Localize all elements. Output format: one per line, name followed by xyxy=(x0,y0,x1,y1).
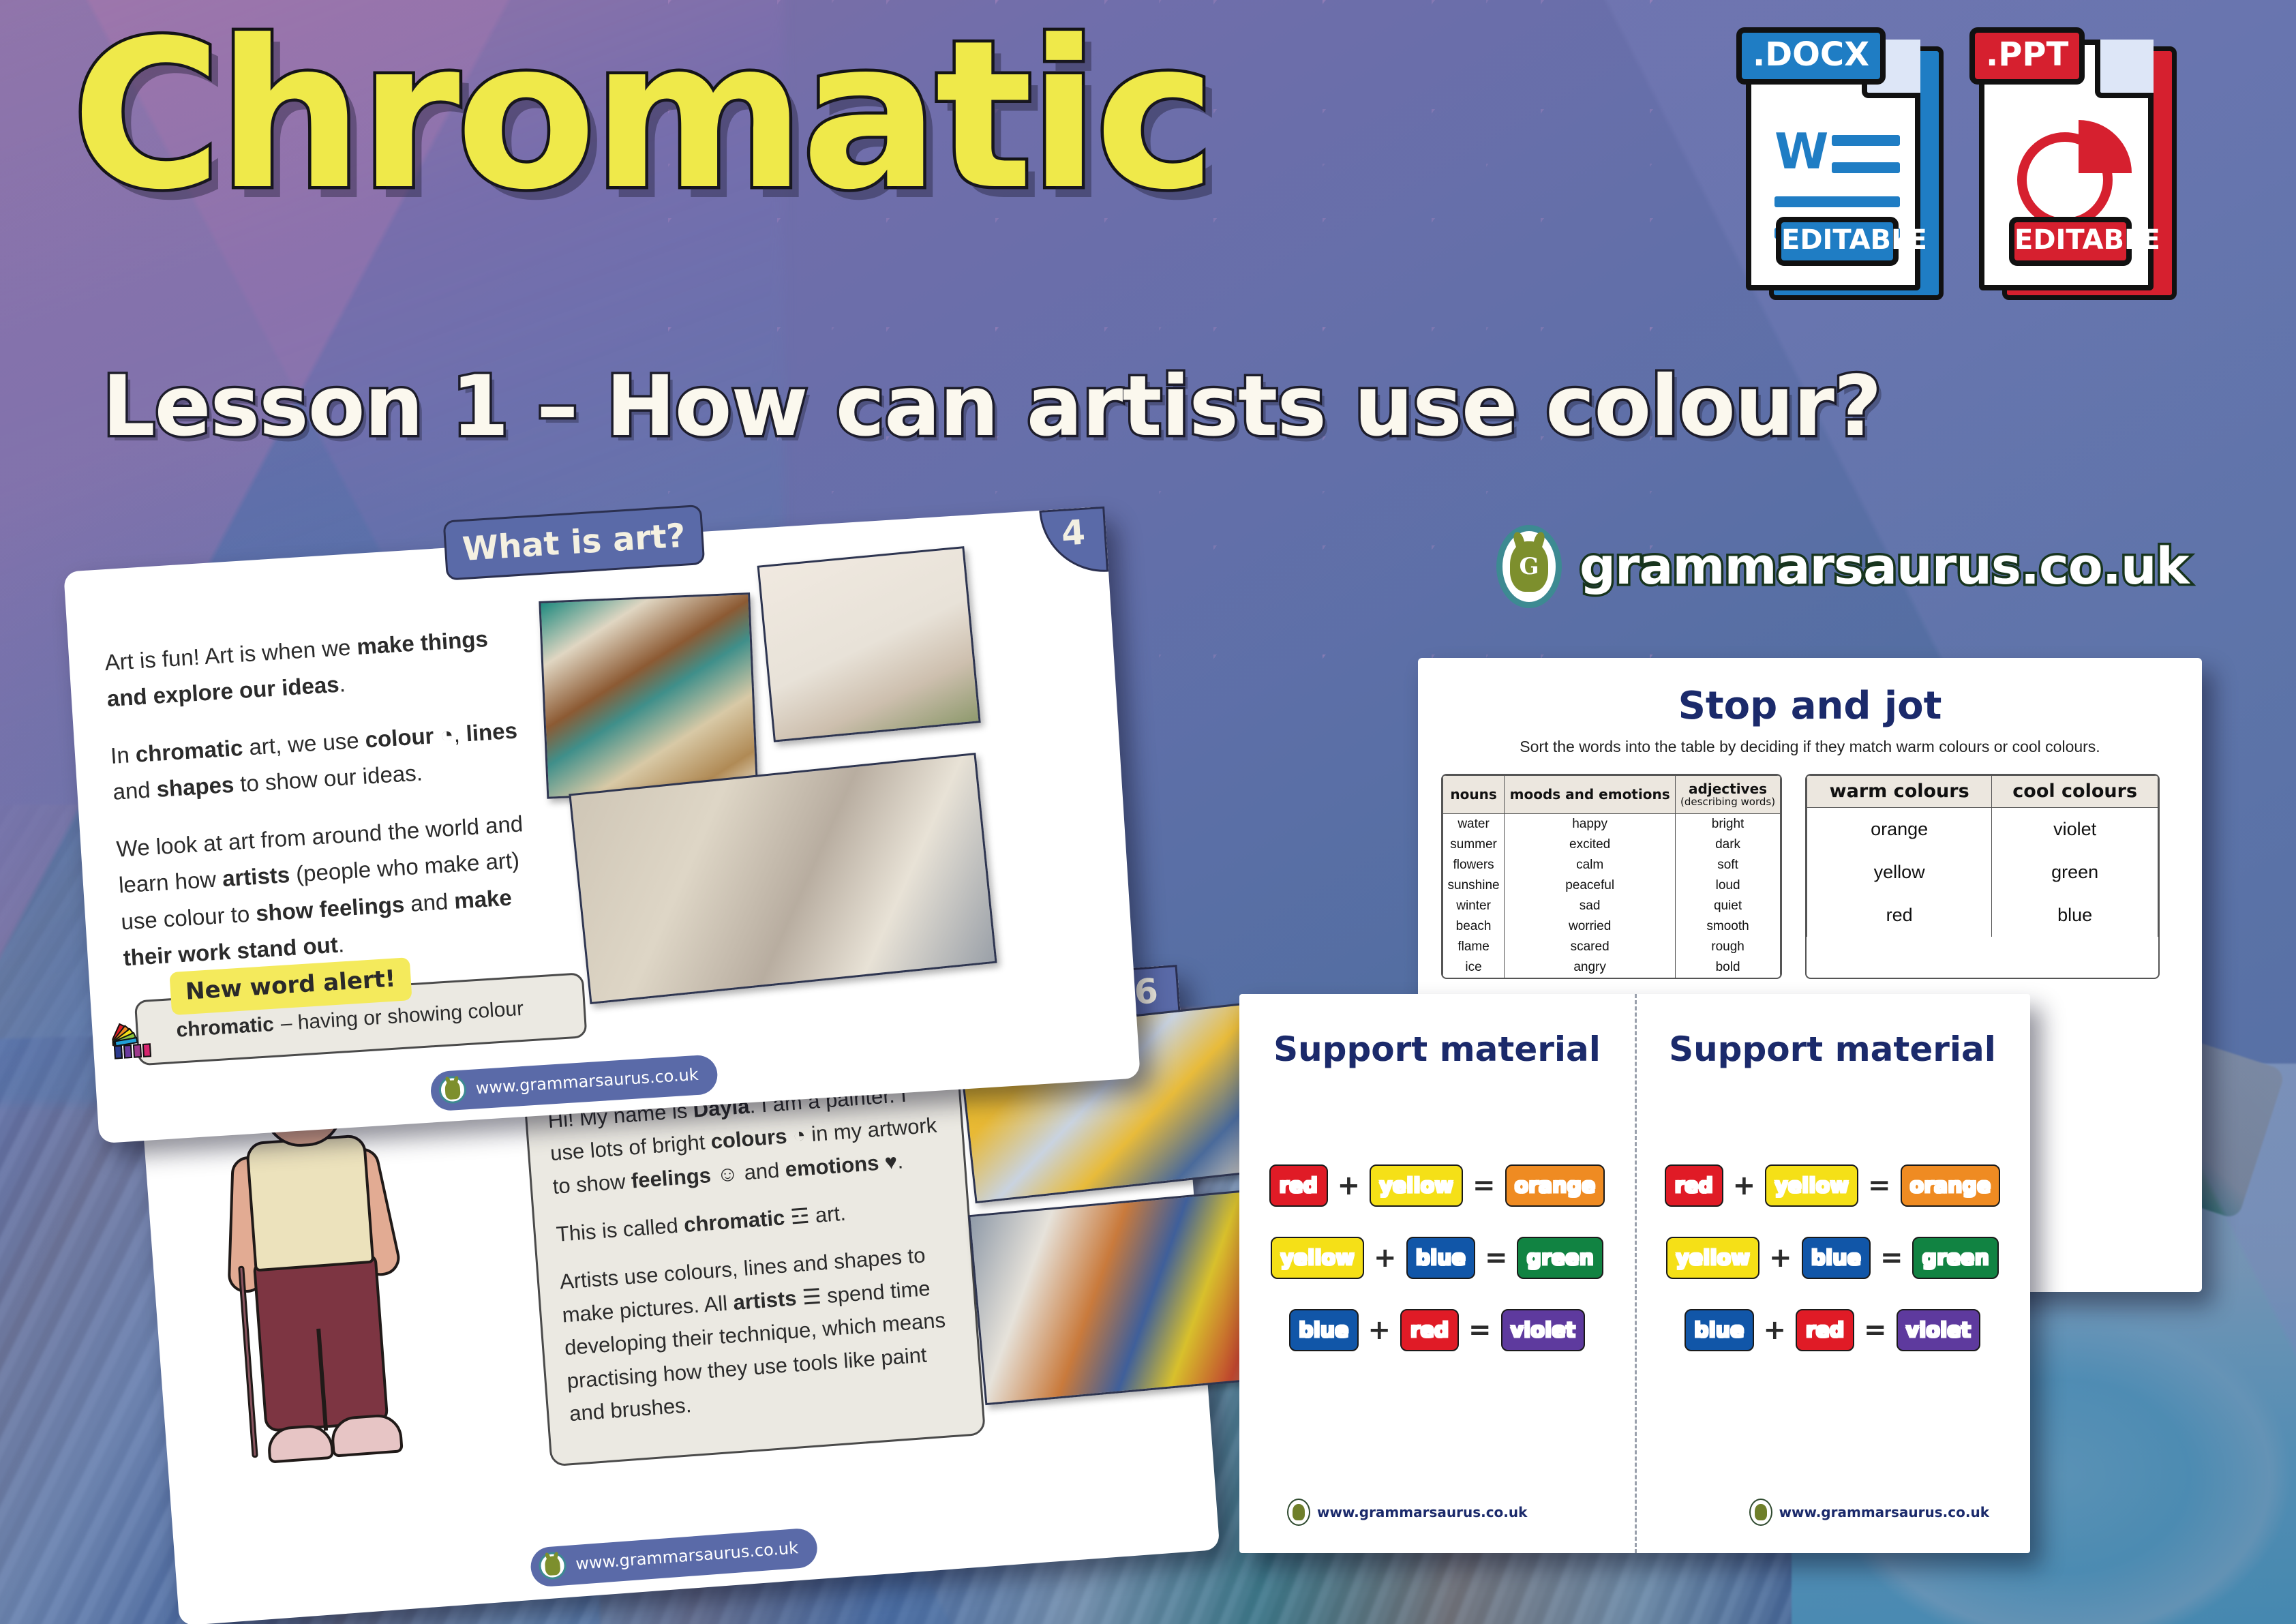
equals-symbol: = xyxy=(1472,1170,1496,1201)
word-cell: angry xyxy=(1505,957,1676,978)
paragraph: Art is fun! Art is when we make things a… xyxy=(104,618,524,717)
photo-marble-busts xyxy=(569,753,997,1004)
word-cell: rough xyxy=(1676,937,1781,957)
table-row: summerexciteddark xyxy=(1443,834,1781,855)
docx-badge: W EDITABLE .DOCX xyxy=(1746,27,1944,300)
colour-chip-orange[interactable]: orange xyxy=(1505,1164,1605,1207)
support-panel-right: Support material red+yellow=orangeyellow… xyxy=(1635,994,2030,1553)
colour-mixing-equations: red+yellow=orangeyellow+blue=greenblue+r… xyxy=(1635,1164,2030,1351)
sorted-word-cell[interactable]: violet xyxy=(1992,807,2158,851)
word-cell: bold xyxy=(1676,957,1781,978)
doc-line-2 xyxy=(1832,162,1900,173)
column-header: nouns xyxy=(1443,776,1505,814)
word-bank-table: nounsmoods and emotionsadjectives(descri… xyxy=(1441,774,1782,979)
plus-symbol: + xyxy=(1338,1170,1361,1201)
word-cell: peaceful xyxy=(1505,875,1676,896)
colour-chip-red[interactable]: red xyxy=(1400,1309,1459,1351)
colour-chip-red[interactable]: red xyxy=(1665,1164,1723,1207)
photo-palette-and-brushes xyxy=(968,1188,1278,1405)
page-fold-corner xyxy=(2095,40,2154,98)
dayla-speech-box: Hi! My name is Dayla. I am a painter. I … xyxy=(523,1055,986,1467)
footer-url-text: www.grammarsaurus.co.uk xyxy=(475,1065,699,1098)
colour-equation-row: blue+red=violet xyxy=(1685,1309,1980,1351)
lesson-subtitle: Lesson 1 – How can artists use colour? xyxy=(102,365,1882,448)
doc-line-1 xyxy=(1832,135,1900,146)
new-word-term: chromatic xyxy=(176,1013,275,1042)
equals-symbol: = xyxy=(1485,1242,1508,1274)
sorted-word-cell[interactable]: yellow xyxy=(1807,851,1992,894)
colour-chip-blue[interactable]: blue xyxy=(1406,1237,1475,1279)
photo-art-studio xyxy=(539,592,758,799)
colour-swatch-fan-icon xyxy=(110,1014,162,1059)
word-bank-header-row: nounsmoods and emotionsadjectives(descri… xyxy=(1443,776,1781,814)
colour-chip-yellow[interactable]: yellow xyxy=(1271,1237,1364,1279)
footer-dinosaur-icon xyxy=(1287,1499,1310,1526)
equals-symbol: = xyxy=(1868,1170,1891,1201)
colour-equation-row: blue+red=violet xyxy=(1289,1309,1585,1351)
docx-tag-label: .DOCX xyxy=(1736,27,1886,85)
ppt-editable-label: EDITABLE xyxy=(2009,217,2132,266)
word-cell: summer xyxy=(1443,834,1505,855)
column-header: adjectives(describing words) xyxy=(1676,776,1781,814)
footer-url-text: www.grammarsaurus.co.uk xyxy=(1317,1504,1527,1520)
column-header: cool colours xyxy=(1992,776,2158,808)
footer-url-text: www.grammarsaurus.co.uk xyxy=(1779,1504,1989,1520)
colour-chip-blue[interactable]: blue xyxy=(1802,1237,1871,1279)
support-footer-url[interactable]: www.grammarsaurus.co.uk xyxy=(1749,1499,1989,1526)
footer-dinosaur-icon xyxy=(538,1551,567,1580)
worksheet-support-material[interactable]: Support material red+yellow=orangeyellow… xyxy=(1239,994,2030,1553)
warm-cool-sorting-table[interactable]: warm colourscool colours orangevioletyel… xyxy=(1805,774,2160,979)
colour-chip-green[interactable]: green xyxy=(1517,1237,1603,1279)
word-cell: scared xyxy=(1505,937,1676,957)
word-cell: bright xyxy=(1676,813,1781,834)
word-bank-body: waterhappybrightsummerexciteddarkflowers… xyxy=(1443,813,1781,978)
colour-equation-row: yellow+blue=green xyxy=(1271,1237,1603,1279)
table-row[interactable]: yellowgreen xyxy=(1807,851,2158,894)
word-cell: soft xyxy=(1676,855,1781,875)
brand-url-text: grammarsaurus.co.uk xyxy=(1580,537,2189,596)
paragraph: In chromatic art, we use colour ◔, lines… xyxy=(110,712,530,811)
table-row: iceangrybold xyxy=(1443,957,1781,978)
table-row: waterhappybright xyxy=(1443,813,1781,834)
swatch-fan xyxy=(110,1014,162,1047)
word-cell: sunshine xyxy=(1443,875,1505,896)
table-row[interactable]: orangeviolet xyxy=(1807,807,2158,851)
support-material-title: Support material xyxy=(1635,1029,2030,1069)
word-cell: happy xyxy=(1505,813,1676,834)
word-cell: water xyxy=(1443,813,1505,834)
table-row: flowerscalmsoft xyxy=(1443,855,1781,875)
dayla-top xyxy=(245,1134,374,1272)
ppt-badge: EDITABLE .PPT xyxy=(1979,27,2177,300)
colour-chip-blue[interactable]: blue xyxy=(1685,1309,1753,1351)
stop-and-jot-instruction: Sort the words into the table by decidin… xyxy=(1418,738,2202,756)
equals-symbol: = xyxy=(1864,1314,1887,1346)
sorted-word-cell[interactable]: red xyxy=(1807,894,1992,937)
colour-chip-red[interactable]: red xyxy=(1269,1164,1328,1207)
colour-chip-orange[interactable]: orange xyxy=(1901,1164,2001,1207)
word-cell: winter xyxy=(1443,896,1505,916)
paragraph: We look at art from around the world and… xyxy=(115,805,539,976)
footer-dinosaur-icon xyxy=(1749,1499,1772,1526)
word-cell: dark xyxy=(1676,834,1781,855)
docx-editable-label: EDITABLE xyxy=(1776,217,1899,266)
colour-chip-green[interactable]: green xyxy=(1912,1237,1998,1279)
word-cell: loud xyxy=(1676,875,1781,896)
worksheet-body-text: Art is fun! Art is when we make things a… xyxy=(104,618,541,997)
table-row: wintersadquiet xyxy=(1443,896,1781,916)
file-format-badges: W EDITABLE .DOCX EDITABLE .PPT xyxy=(1746,27,2177,300)
stop-and-jot-tables: nounsmoods and emotionsadjectives(descri… xyxy=(1418,774,2202,979)
colour-chip-yellow[interactable]: yellow xyxy=(1765,1164,1858,1207)
word-cell: worried xyxy=(1505,916,1676,937)
support-footer-url[interactable]: www.grammarsaurus.co.uk xyxy=(1287,1499,1527,1526)
ppt-tag-label: .PPT xyxy=(1969,27,2085,85)
sorted-word-cell[interactable]: green xyxy=(1992,851,2158,894)
pie-chart-slice xyxy=(2079,120,2132,173)
footer-dinosaur-icon xyxy=(438,1075,467,1104)
worksheet-what-is-art[interactable]: 4 What is art? Art is fun! Art is when w… xyxy=(63,507,1141,1143)
dinosaur-logo-icon: G xyxy=(1496,525,1562,608)
stop-and-jot-title: Stop and jot xyxy=(1418,684,2202,728)
grammarsaurus-logo[interactable]: G grammarsaurus.co.uk xyxy=(1496,525,2189,608)
doc-line-3 xyxy=(1774,196,1900,207)
table-row: flamescaredrough xyxy=(1443,937,1781,957)
word-cell: ice xyxy=(1443,957,1505,978)
sorting-header-row: warm colourscool colours xyxy=(1807,776,2158,808)
support-material-title: Support material xyxy=(1239,1029,1635,1069)
colour-chip-yellow[interactable]: yellow xyxy=(1370,1164,1463,1207)
colour-chip-yellow[interactable]: yellow xyxy=(1666,1237,1759,1279)
plus-symbol: + xyxy=(1764,1314,1787,1346)
word-cell: sad xyxy=(1505,896,1676,916)
word-cell: flowers xyxy=(1443,855,1505,875)
word-cell: excited xyxy=(1505,834,1676,855)
plus-symbol: + xyxy=(1374,1242,1397,1274)
column-header: warm colours xyxy=(1807,776,1992,808)
colour-equation-row: red+yellow=orange xyxy=(1665,1164,2001,1207)
page-title: Chromatic xyxy=(72,14,1212,218)
worksheet-footer-url[interactable]: www.grammarsaurus.co.uk xyxy=(429,1054,719,1111)
table-row: beachworriedsmooth xyxy=(1443,916,1781,937)
sorted-word-cell[interactable]: orange xyxy=(1807,807,1992,851)
dinosaur-head-glyph: G xyxy=(1510,541,1548,592)
photo-portrait-sketch xyxy=(757,546,981,742)
plus-symbol: + xyxy=(1733,1170,1756,1201)
colour-chip-violet[interactable]: violet xyxy=(1501,1309,1585,1351)
colour-chip-violet[interactable]: violet xyxy=(1897,1309,1980,1351)
paragraph: Artists use colours, lines and shapes to… xyxy=(558,1237,961,1430)
colour-chip-blue[interactable]: blue xyxy=(1289,1309,1358,1351)
word-cell: beach xyxy=(1443,916,1505,937)
footer-url-text: www.grammarsaurus.co.uk xyxy=(575,1538,798,1574)
colour-mixing-equations: red+yellow=orangeyellow+blue=greenblue+r… xyxy=(1239,1164,1635,1351)
colour-chip-red[interactable]: red xyxy=(1796,1309,1854,1351)
word-cell: quiet xyxy=(1676,896,1781,916)
equals-symbol: = xyxy=(1880,1242,1903,1274)
colour-equation-row: red+yellow=orange xyxy=(1269,1164,1605,1207)
word-cell: smooth xyxy=(1676,916,1781,937)
pie-chart-icon xyxy=(2017,116,2133,232)
word-cell: flame xyxy=(1443,937,1505,957)
worksheet-footer-url[interactable]: www.grammarsaurus.co.uk xyxy=(530,1527,819,1588)
sorted-word-cell[interactable]: blue xyxy=(1992,894,2158,937)
column-header: moods and emotions xyxy=(1505,776,1676,814)
table-row: sunshinepeacefulloud xyxy=(1443,875,1781,896)
sorting-body: orangevioletyellowgreenredblue xyxy=(1807,807,2158,937)
table-row[interactable]: redblue xyxy=(1807,894,2158,937)
plus-symbol: + xyxy=(1769,1242,1792,1274)
word-w-letter: W xyxy=(1774,127,1828,176)
support-panel-left: Support material red+yellow=orangeyellow… xyxy=(1239,994,1635,1553)
page-number-badge: 4 xyxy=(1039,507,1108,576)
equals-symbol: = xyxy=(1468,1314,1492,1346)
word-cell: calm xyxy=(1505,855,1676,875)
colour-equation-row: yellow+blue=green xyxy=(1666,1237,1999,1279)
plus-symbol: + xyxy=(1368,1314,1391,1346)
